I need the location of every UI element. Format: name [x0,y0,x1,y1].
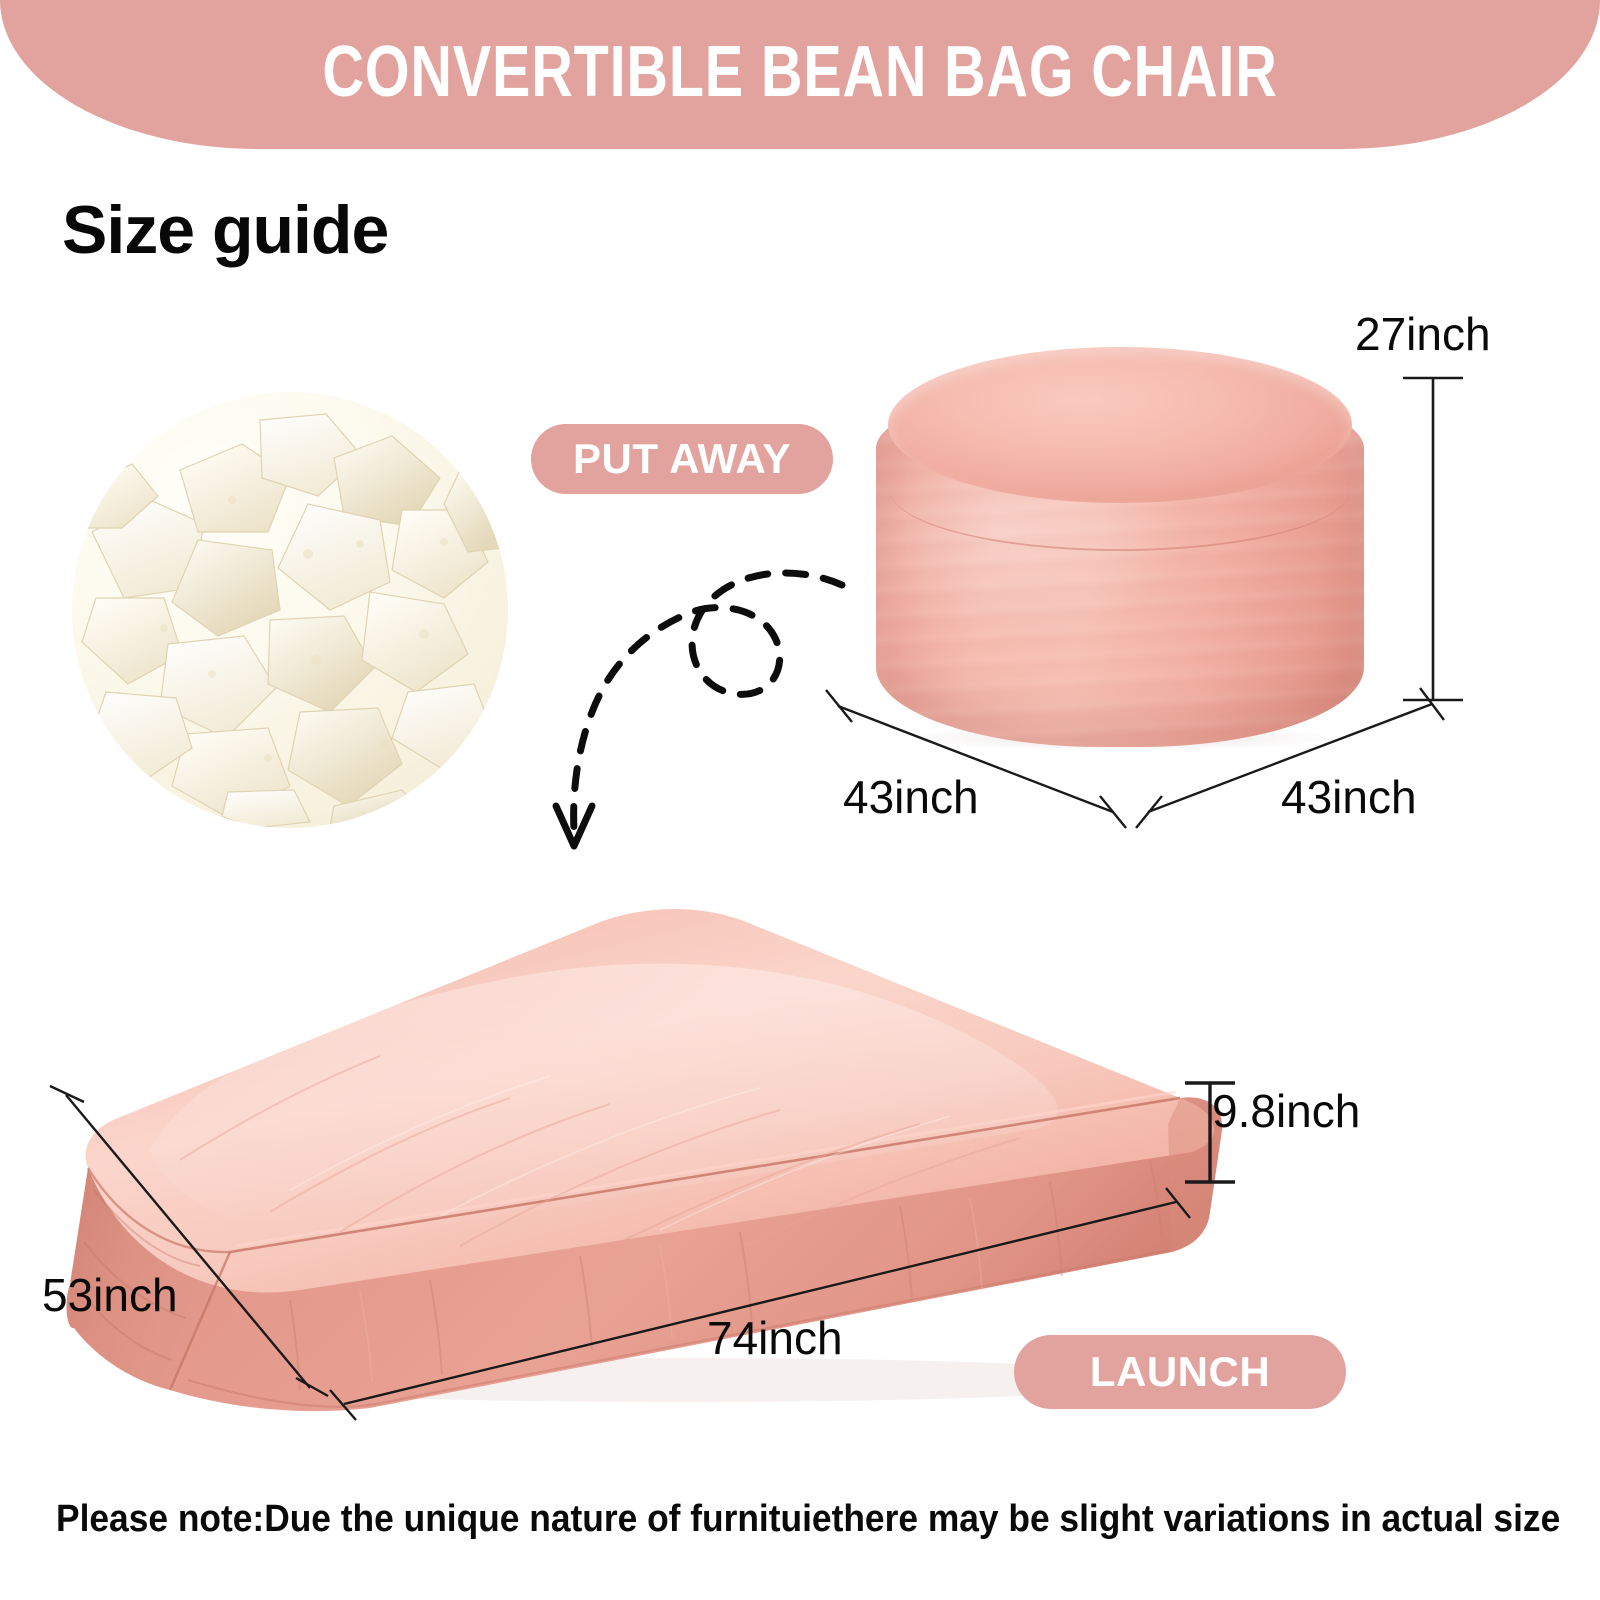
foam-fill-image [72,392,508,828]
mattress-length-label: 74inch [707,1315,843,1361]
pouf-height-label: 27inch [1355,311,1491,357]
pouf-height-dimension [1403,378,1463,700]
header-banner: CONVERTIBLE BEAN BAG CHAIR [0,0,1600,149]
disclaimer-note: Please note:Due the unique nature of fur… [56,1498,1544,1541]
pouf-image [876,347,1364,747]
put-away-badge[interactable]: PUT AWAY [531,424,833,494]
mattress-depth-label: 53inch [42,1272,178,1318]
launch-badge[interactable]: LAUNCH [1014,1335,1346,1409]
page-title: Size guide [62,196,388,264]
mattress-thickness-label: 9.8inch [1212,1088,1360,1134]
pouf-top-face [888,347,1352,503]
dashed-arrow-head [556,806,592,846]
dashed-arrow-icon [574,573,842,830]
pouf-width-label: 43inch [843,774,979,820]
banner-title: CONVERTIBLE BEAN BAG CHAIR [322,36,1277,108]
pouf-depth-label: 43inch [1281,774,1417,820]
